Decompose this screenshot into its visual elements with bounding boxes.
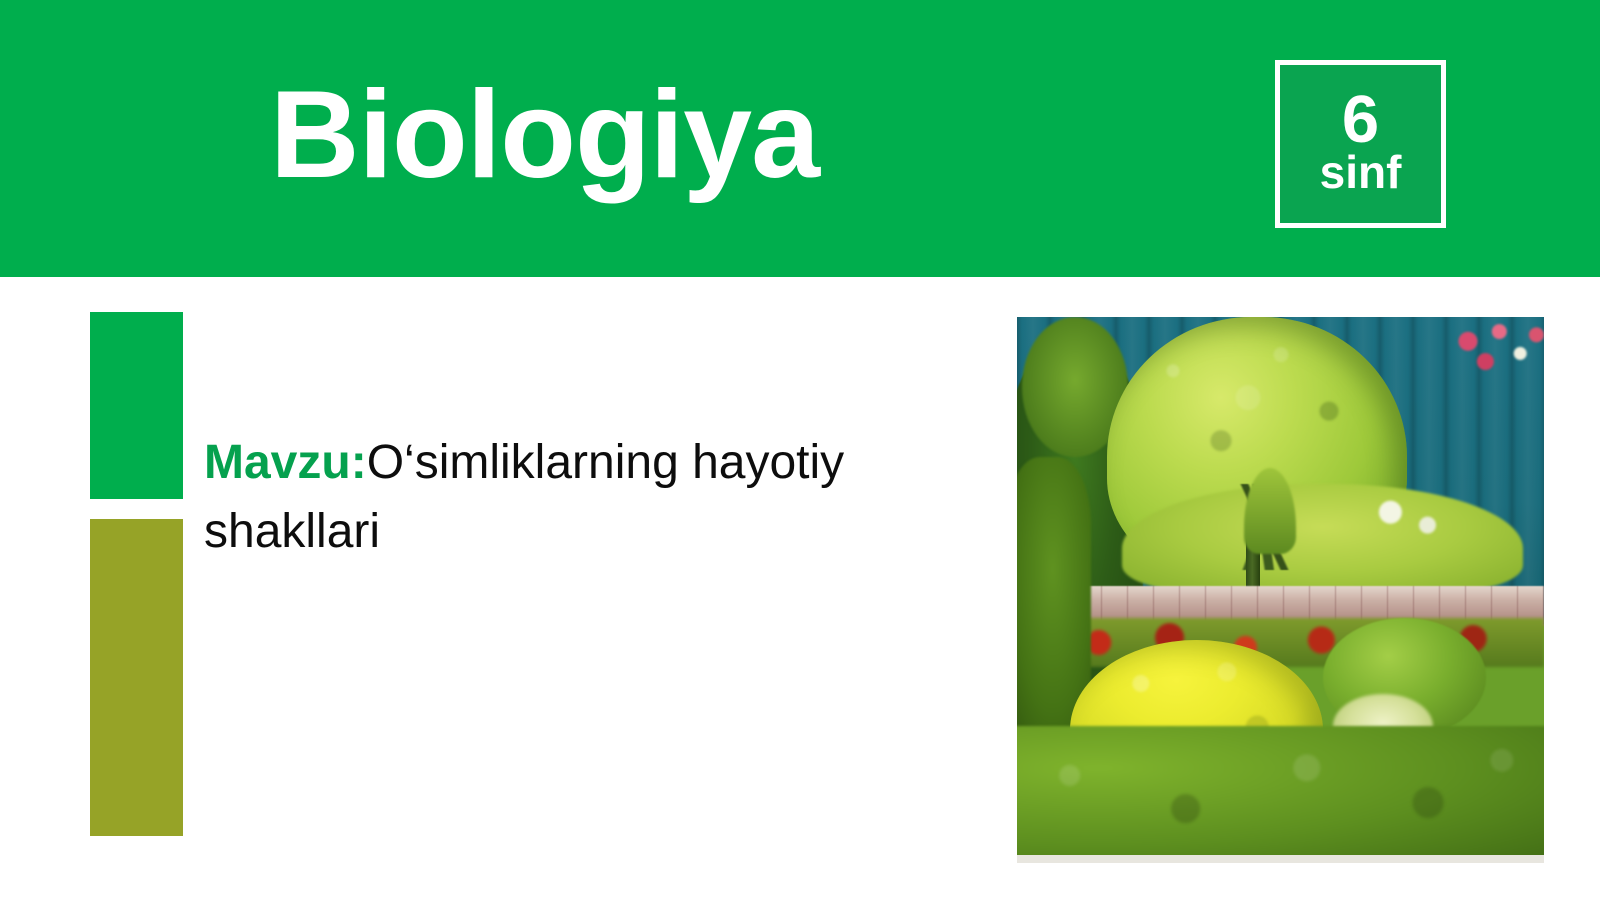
photo-ground-texture <box>1017 715 1544 855</box>
photo-bottom-strip <box>1017 855 1544 863</box>
garden-landscape-photo <box>1017 317 1544 855</box>
photo-white-blooms <box>1344 478 1460 553</box>
grade-label: sinf <box>1320 149 1402 195</box>
topic-text-block: Mavzu:O‘simliklarning hayotiy shakllari <box>204 428 1004 566</box>
accent-bar-green <box>90 312 183 499</box>
photo-pink-roses <box>1439 317 1544 398</box>
header-banner: Biologiya 6 sinf <box>0 0 1600 277</box>
grade-badge: 6 sinf <box>1275 60 1446 228</box>
topic-label: Mavzu: <box>204 436 367 489</box>
grade-number: 6 <box>1342 89 1379 151</box>
accent-bar-olive <box>90 519 183 836</box>
page-title: Biologiya <box>270 73 819 197</box>
